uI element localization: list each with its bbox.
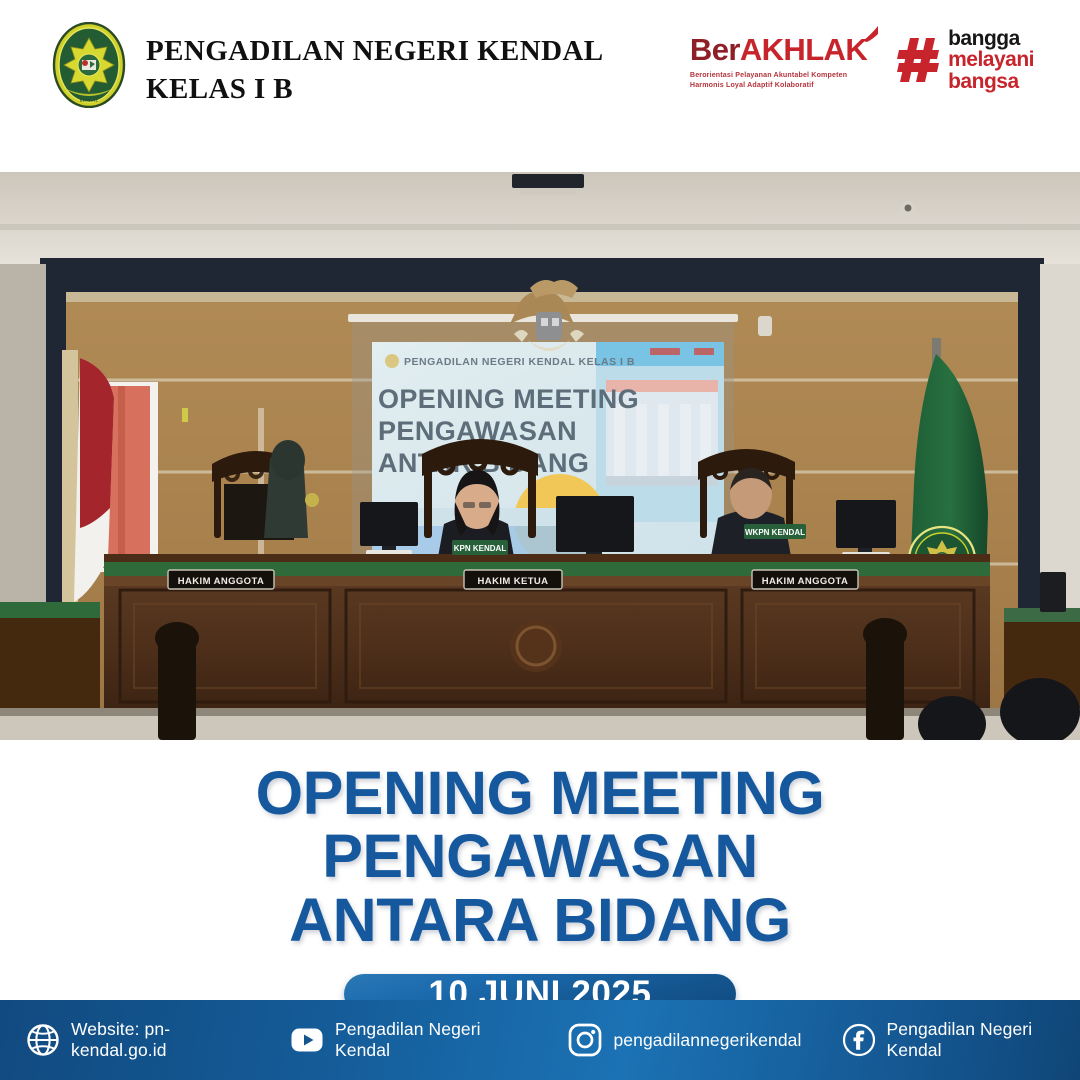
youtube-icon xyxy=(290,1023,324,1057)
berakhlak-subtitle: Berorientasi Pelayanan Akuntabel Kompete… xyxy=(690,70,847,90)
page-footer: Website: pn-kendal.go.id Pengadilan Nege… xyxy=(0,1000,1080,1080)
page-subtitle: KELAS I B xyxy=(146,70,604,108)
nameplate-center: HAKIM KETUA xyxy=(478,576,549,587)
bangga-line-3: bangsa xyxy=(948,71,1034,92)
footer-website[interactable]: Website: pn-kendal.go.id xyxy=(26,1019,254,1061)
courtroom-scene: PENGADILAN NEGERI KENDAL KELAS I B OPENI… xyxy=(0,172,1080,740)
instagram-icon xyxy=(568,1023,602,1057)
svg-text:KENDAL: KENDAL xyxy=(80,98,99,103)
bangga-melayani-bangsa-logo: bangga melayani bangsa xyxy=(897,26,1034,92)
footer-facebook[interactable]: Pengadilan Negeri Kendal xyxy=(842,1019,1080,1061)
courtroom-photo: PENGADILAN NEGERI KENDAL KELAS I B OPENI… xyxy=(0,172,1080,740)
bangga-wordmark: bangga melayani bangsa xyxy=(948,28,1034,92)
footer-instagram-label: pengadilannegerikendal xyxy=(613,1030,801,1051)
footer-instagram[interactable]: pengadilannegerikendal xyxy=(568,1023,801,1057)
svg-text:OPENING MEETING: OPENING MEETING xyxy=(378,384,639,414)
event-headline-line-1: OPENING MEETING PENGAWASAN xyxy=(256,759,825,890)
berakhlak-subtitle-line2: Harmonis Loyal Adaptif Kolaboratif xyxy=(690,80,847,90)
berakhlak-prefix: Ber xyxy=(690,32,740,67)
swoosh-icon xyxy=(862,25,880,43)
hashtag-icon xyxy=(897,36,941,84)
nameplate-wkpn: WKPN KENDAL xyxy=(745,528,805,537)
page-header: KENDAL PENGADILAN NEGERI KENDAL KELAS I … xyxy=(0,0,1080,172)
nameplate-right: HAKIM ANGGOTA xyxy=(762,576,848,587)
facebook-icon xyxy=(842,1023,876,1057)
header-brand: KENDAL PENGADILAN NEGERI KENDAL KELAS I … xyxy=(0,0,604,109)
event-headline-line-2: ANTARA BIDANG xyxy=(35,889,1045,952)
event-headline: OPENING MEETING PENGAWASAN ANTARA BIDANG xyxy=(35,762,1045,952)
header-title-group: PENGADILAN NEGERI KENDAL KELAS I B xyxy=(146,22,604,109)
bangga-line-1: bangga xyxy=(948,28,1034,49)
berakhlak-suffix: AKHLAK xyxy=(740,32,867,67)
berakhlak-logo: BerAKHLAK Berorientasi Pelayanan Akuntab… xyxy=(690,26,867,90)
page-title: PENGADILAN NEGERI KENDAL xyxy=(146,32,604,70)
nameplate-left: HAKIM ANGGOTA xyxy=(178,576,264,587)
svg-text:PENGADILAN NEGERI KENDAL KELAS: PENGADILAN NEGERI KENDAL KELAS I B xyxy=(404,356,635,368)
footer-facebook-label: Pengadilan Negeri Kendal xyxy=(887,1019,1080,1061)
bangga-line-2: melayani xyxy=(948,49,1034,70)
footer-youtube[interactable]: Pengadilan Negeri Kendal xyxy=(290,1019,528,1061)
footer-youtube-label: Pengadilan Negeri Kendal xyxy=(335,1019,528,1061)
berakhlak-subtitle-line1: Berorientasi Pelayanan Akuntabel Kompete… xyxy=(690,70,847,80)
title-section: OPENING MEETING PENGAWASAN ANTARA BIDANG… xyxy=(0,740,1080,1000)
header-logos: BerAKHLAK Berorientasi Pelayanan Akuntab… xyxy=(690,26,1034,92)
globe-icon xyxy=(26,1023,60,1057)
nameplate-kpn: KPN KENDAL xyxy=(454,544,507,553)
footer-website-label: Website: pn-kendal.go.id xyxy=(71,1019,254,1061)
berakhlak-wordmark: BerAKHLAK xyxy=(690,34,867,65)
court-seal-icon: KENDAL xyxy=(52,22,126,108)
